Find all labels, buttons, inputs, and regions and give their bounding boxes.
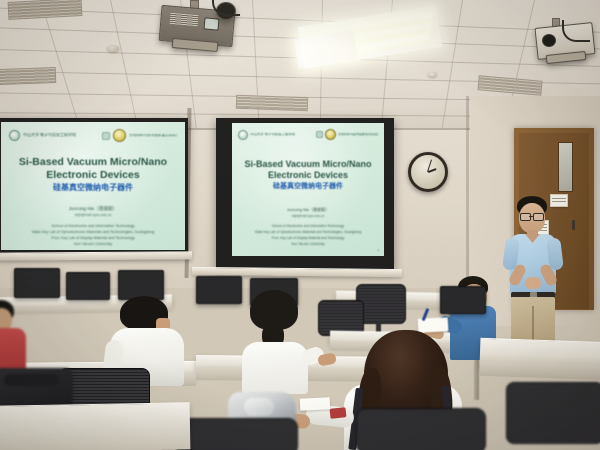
slide-header-org-left: 中山大学 电子与信息工程学院 — [23, 133, 89, 137]
slide-header-org-right: 光电材料与技术国家重点实验室 — [129, 134, 177, 138]
student-shirt — [242, 342, 308, 394]
slide-right: 中山大学 电子与信息工程学院 光电材料与技术国家重点实验室 Si-Based V… — [232, 123, 384, 256]
slide-left: 中山大学 电子与信息工程学院 光电材料与技术国家重点实验室 Si-Based V… — [1, 122, 185, 250]
chair[interactable] — [506, 382, 600, 444]
monitor — [196, 276, 242, 304]
smoke-detector-icon — [428, 72, 437, 77]
slide-title-line1: Si-Based Vacuum Micro/Nano — [1, 156, 185, 169]
presenter-hands — [525, 277, 541, 289]
slide-header-org-right: 光电材料与技术国家重点实验室 — [338, 133, 378, 136]
ceiling-vent — [0, 67, 56, 85]
slide-presenter-name: Juncong Nie（聂俊聪） — [232, 207, 384, 212]
glasses-icon — [520, 213, 544, 220]
slide-page-number: 1 — [377, 249, 379, 253]
slide-affiliation-2: Prov. Key Lab of Display Material and Te… — [232, 236, 384, 241]
university-crest-logo — [9, 130, 20, 141]
university-crest-logo — [238, 130, 248, 140]
slide-presenter-email: nkjh@mail.sysu.edu.cn — [1, 213, 185, 217]
slide-affiliation-0: School of Electronics and Information Te… — [1, 224, 185, 230]
smoke-detector-icon — [107, 45, 119, 52]
door-window — [558, 142, 573, 192]
desk-frontmost — [0, 402, 190, 450]
slide-presenter-email: nkjh@mail.sysu.edu.cn — [232, 214, 384, 218]
right-projection-screen: 中山大学 电子与信息工程学院 光电材料与技术国家重点实验室 Si-Based V… — [216, 118, 394, 270]
slide-affiliation-2: Prov. Key Lab of Display Material and Te… — [1, 236, 185, 242]
monitor — [66, 272, 110, 300]
lab-gold-logo — [325, 129, 336, 140]
slide-affiliation-3: Sun Yat-sen University — [1, 242, 185, 248]
monitor — [14, 268, 60, 298]
lab-gold-logo — [113, 129, 126, 142]
slide-title-line2: Electronic Devices — [1, 169, 185, 182]
slide-title-line2: Electronic Devices — [232, 170, 384, 181]
slide-affiliation-3: Sun Yat-sen University — [232, 242, 384, 247]
slide-presenter-name: Juncong Nie（聂俊聪） — [1, 206, 185, 212]
slide-affiliation-1: State Key Lab of Optoelectronic Material… — [1, 230, 185, 236]
slide-affiliation-0: School of Electronics and Information Te… — [232, 224, 384, 229]
chair[interactable] — [176, 418, 298, 450]
slide-subtitle-chinese: 硅基真空微纳电子器件 — [1, 183, 185, 193]
slide-header-org-left: 中山大学 电子与信息工程学院 — [250, 133, 304, 137]
left-projection-screen: 中山大学 电子与信息工程学院 光电材料与技术国家重点实验室 Si-Based V… — [0, 118, 188, 254]
mobile-phone[interactable] — [330, 407, 347, 419]
ceiling-vent — [477, 75, 542, 96]
classroom-photo: 中山大学 电子与信息工程学院 光电材料与技术国家重点实验室 Si-Based V… — [0, 0, 600, 450]
chair[interactable] — [356, 408, 486, 450]
wall-clock — [408, 152, 448, 192]
slide-affiliation-1: State Key Lab of Optoelectronic Material… — [232, 230, 384, 235]
monitor — [440, 286, 486, 314]
slide-subtitle-chinese: 硅基真空微纳电子器件 — [232, 183, 384, 191]
chalk-rail-ledge — [0, 251, 192, 260]
ceiling-vent — [8, 0, 83, 20]
door-handle[interactable] — [572, 220, 575, 230]
door-notice — [550, 194, 568, 207]
notepaper — [300, 397, 331, 411]
slide-title-line1: Si-Based Vacuum Micro/Nano — [232, 159, 384, 170]
ceiling-vent — [236, 95, 308, 112]
